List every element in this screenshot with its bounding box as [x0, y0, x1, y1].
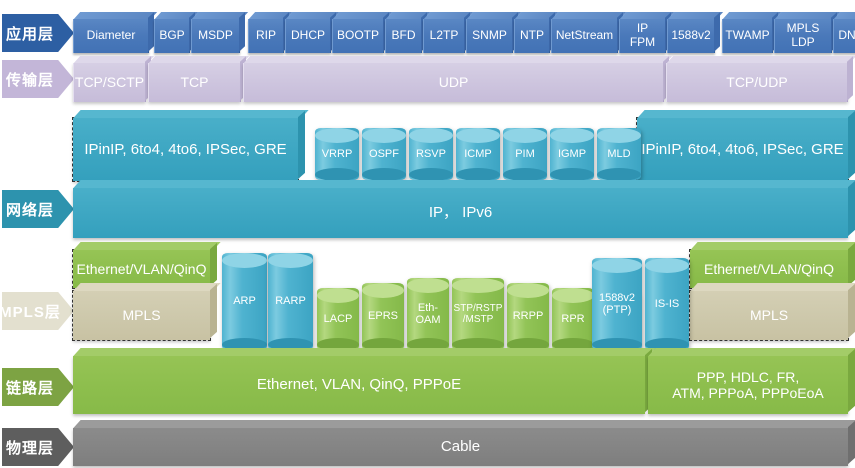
network-tunnel-left[interactable]: IPinIP, 6to4, 4to6, IPSec, GRE	[73, 118, 298, 181]
network-cylinder-vrrp[interactable]: VRRP	[315, 128, 359, 180]
physical-layer-tag-label: 物理层	[6, 437, 54, 458]
app-protocol-dhcp[interactable]: DHCP	[285, 19, 331, 53]
link-cylinder-eprs[interactable]: EPRS	[362, 283, 404, 350]
mpls-left-mpls-box[interactable]: MPLS	[73, 291, 210, 340]
app-protocol-twamp[interactable]: TWAMP	[722, 19, 773, 53]
protocol-stack-diagram: 应用层 传输层 网络层 MPLS层 链路层 物理层 Diameter BGP M…	[0, 0, 855, 468]
link-cylinder-lacp[interactable]: LACP	[317, 288, 359, 350]
network-cylinder-mld[interactable]: MLD	[597, 128, 641, 180]
network-cylinder-pim[interactable]: PIM	[503, 128, 547, 180]
link-cylinder-stp-rstp-mstp[interactable]: STP/RSTP /MSTP	[452, 278, 504, 350]
app-protocol-1588v2[interactable]: 1588v2	[667, 19, 715, 53]
application-layer-tag: 应用层	[2, 14, 74, 52]
app-protocol-dns[interactable]: DNS	[833, 19, 855, 53]
app-protocol-bootp[interactable]: BOOTP	[332, 19, 384, 53]
network-layer-tag-label: 网络层	[6, 199, 54, 220]
app-protocol-diameter[interactable]: Diameter	[73, 19, 149, 53]
app-protocol-snmp[interactable]: SNMP	[466, 19, 513, 53]
link-cylinder-1588v2[interactable]: 1588v2 (PTP)	[592, 258, 642, 350]
network-layer-base[interactable]: IP， IPv6	[73, 188, 848, 238]
transport-block-tcp[interactable]: TCP	[148, 63, 241, 102]
link-cylinder-rarp[interactable]: RARP	[268, 253, 313, 350]
app-protocol-netstream[interactable]: NetStream	[551, 19, 618, 53]
transport-block-udp[interactable]: UDP	[243, 63, 664, 102]
link-cylinder-rrpp[interactable]: RRPP	[507, 283, 549, 350]
transport-block-tcp-sctp[interactable]: TCP/SCTP	[73, 63, 146, 102]
app-protocol-msdp[interactable]: MSDP	[191, 19, 240, 53]
link-layer-tag-label: 链路层	[6, 377, 54, 398]
mpls-layer-tag: MPLS层	[2, 292, 74, 330]
app-protocol-l2tp[interactable]: L2TP	[423, 19, 465, 53]
link-layer-tag: 链路层	[2, 368, 74, 406]
link-cylinder-arp[interactable]: ARP	[222, 253, 267, 350]
link-layer-right-base[interactable]: PPP, HDLC, FR, ATM, PPPoA, PPPoEoA	[648, 356, 848, 414]
transport-layer-tag-label: 传输层	[6, 69, 54, 90]
mpls-layer-tag-label: MPLS层	[0, 301, 61, 322]
app-protocol-bfd[interactable]: BFD	[385, 19, 422, 53]
app-protocol-bgp[interactable]: BGP	[154, 19, 190, 53]
transport-block-tcp-udp[interactable]: TCP/UDP	[666, 63, 848, 102]
network-cylinder-icmp[interactable]: ICMP	[456, 128, 500, 180]
link-layer-left-base[interactable]: Ethernet, VLAN, QinQ, PPPoE	[73, 356, 645, 414]
link-cylinder-eth-oam[interactable]: Eth- OAM	[407, 278, 449, 350]
network-cylinder-ospf[interactable]: OSPF	[362, 128, 406, 180]
physical-layer-tag: 物理层	[2, 428, 74, 466]
link-cylinder-rpr[interactable]: RPR	[552, 288, 594, 350]
mpls-right-mpls-box[interactable]: MPLS	[690, 291, 848, 340]
network-layer-tag: 网络层	[2, 190, 74, 228]
link-cylinder-isis[interactable]: IS-IS	[645, 258, 689, 350]
application-layer-tag-label: 应用层	[6, 23, 54, 44]
app-protocol-rip[interactable]: RIP	[248, 19, 284, 53]
physical-layer-base[interactable]: Cable	[73, 428, 848, 466]
network-cylinder-rsvp[interactable]: RSVP	[409, 128, 453, 180]
app-protocol-mpls-ldp[interactable]: MPLS LDP	[774, 19, 832, 53]
app-protocol-ntp[interactable]: NTP	[514, 19, 550, 53]
transport-layer-tag: 传输层	[2, 60, 74, 98]
network-cylinder-igmp[interactable]: IGMP	[550, 128, 594, 180]
network-tunnel-right[interactable]: IPinIP, 6to4, 4to6, IPSec, GRE	[637, 118, 848, 181]
app-protocol-ip-fpm[interactable]: IP FPM	[619, 19, 666, 53]
